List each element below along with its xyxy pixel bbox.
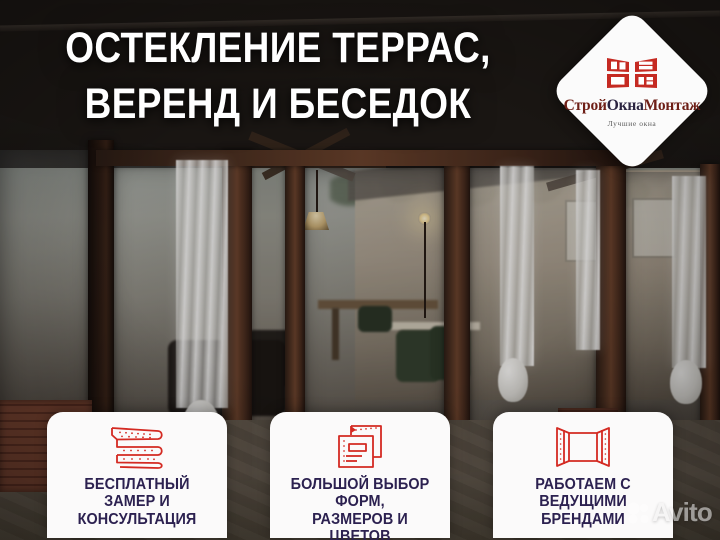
ad-banner: ОСТЕКЛЕНИЕ ТЕРРАС, ВЕРЕНД И БЕСЕДОК: [0, 0, 720, 540]
card-text: БЕСПЛАТНЫЙ ЗАМЕР И КОНСУЛЬТАЦИЯ: [53, 476, 220, 528]
window-panes-icon: [605, 55, 659, 91]
card-text: БОЛЬШОЙ ВЫБОР ФОРМ, РАЗМЕРОВ И ЦВЕТОВ: [276, 476, 443, 540]
card-text-line-1: РАБОТАЕМ С ВЕДУЩИМИ: [505, 476, 661, 511]
company-logo[interactable]: СтройОкнаМонтаж Лучшие окна: [557, 16, 707, 166]
feature-cards: БЕСПЛАТНЫЙ ЗАМЕР И КОНСУЛЬТАЦИЯ: [0, 412, 720, 540]
card-icon-wrapper: [333, 423, 387, 471]
card-text-line-2: РАЗМЕРОВ И ЦВЕТОВ: [282, 511, 438, 540]
card-icon-wrapper: [552, 423, 614, 471]
logo-brand-part1: Строй: [564, 97, 607, 114]
logo-content: СтройОкнаМонтаж Лучшие окна: [557, 16, 707, 166]
logo-brand-part3: Монтаж: [644, 97, 701, 114]
logo-brand-part2: Окна: [607, 97, 644, 114]
card-text-line-1: БОЛЬШОЙ ВЫБОР ФОРМ,: [282, 476, 438, 511]
logo-brand-name: СтройОкнаМонтаж: [564, 97, 701, 115]
card-text-line-1: БЕСПЛАТНЫЙ ЗАМЕР И: [59, 476, 215, 511]
card-text: РАБОТАЕМ С ВЕДУЩИМИ БРЕНДАМИ: [499, 476, 666, 528]
card-icon-wrapper: [108, 423, 166, 471]
feature-card-variety[interactable]: БОЛЬШОЙ ВЫБОР ФОРМ, РАЗМЕРОВ И ЦВЕТОВ: [270, 412, 450, 538]
card-text-line-2: БРЕНДАМИ: [505, 511, 661, 528]
card-text-line-2: КОНСУЛЬТАЦИЯ: [59, 511, 215, 528]
logo-tagline: Лучшие окна: [608, 119, 657, 128]
feature-card-measurement[interactable]: БЕСПЛАТНЫЙ ЗАМЕР И КОНСУЛЬТАЦИЯ: [47, 412, 227, 538]
open-window-icon: [552, 425, 614, 469]
feature-card-brands[interactable]: РАБОТАЕМ С ВЕДУЩИМИ БРЕНДАМИ: [493, 412, 673, 538]
measuring-tape-icon: [108, 424, 166, 470]
catalog-documents-icon: [333, 423, 387, 471]
